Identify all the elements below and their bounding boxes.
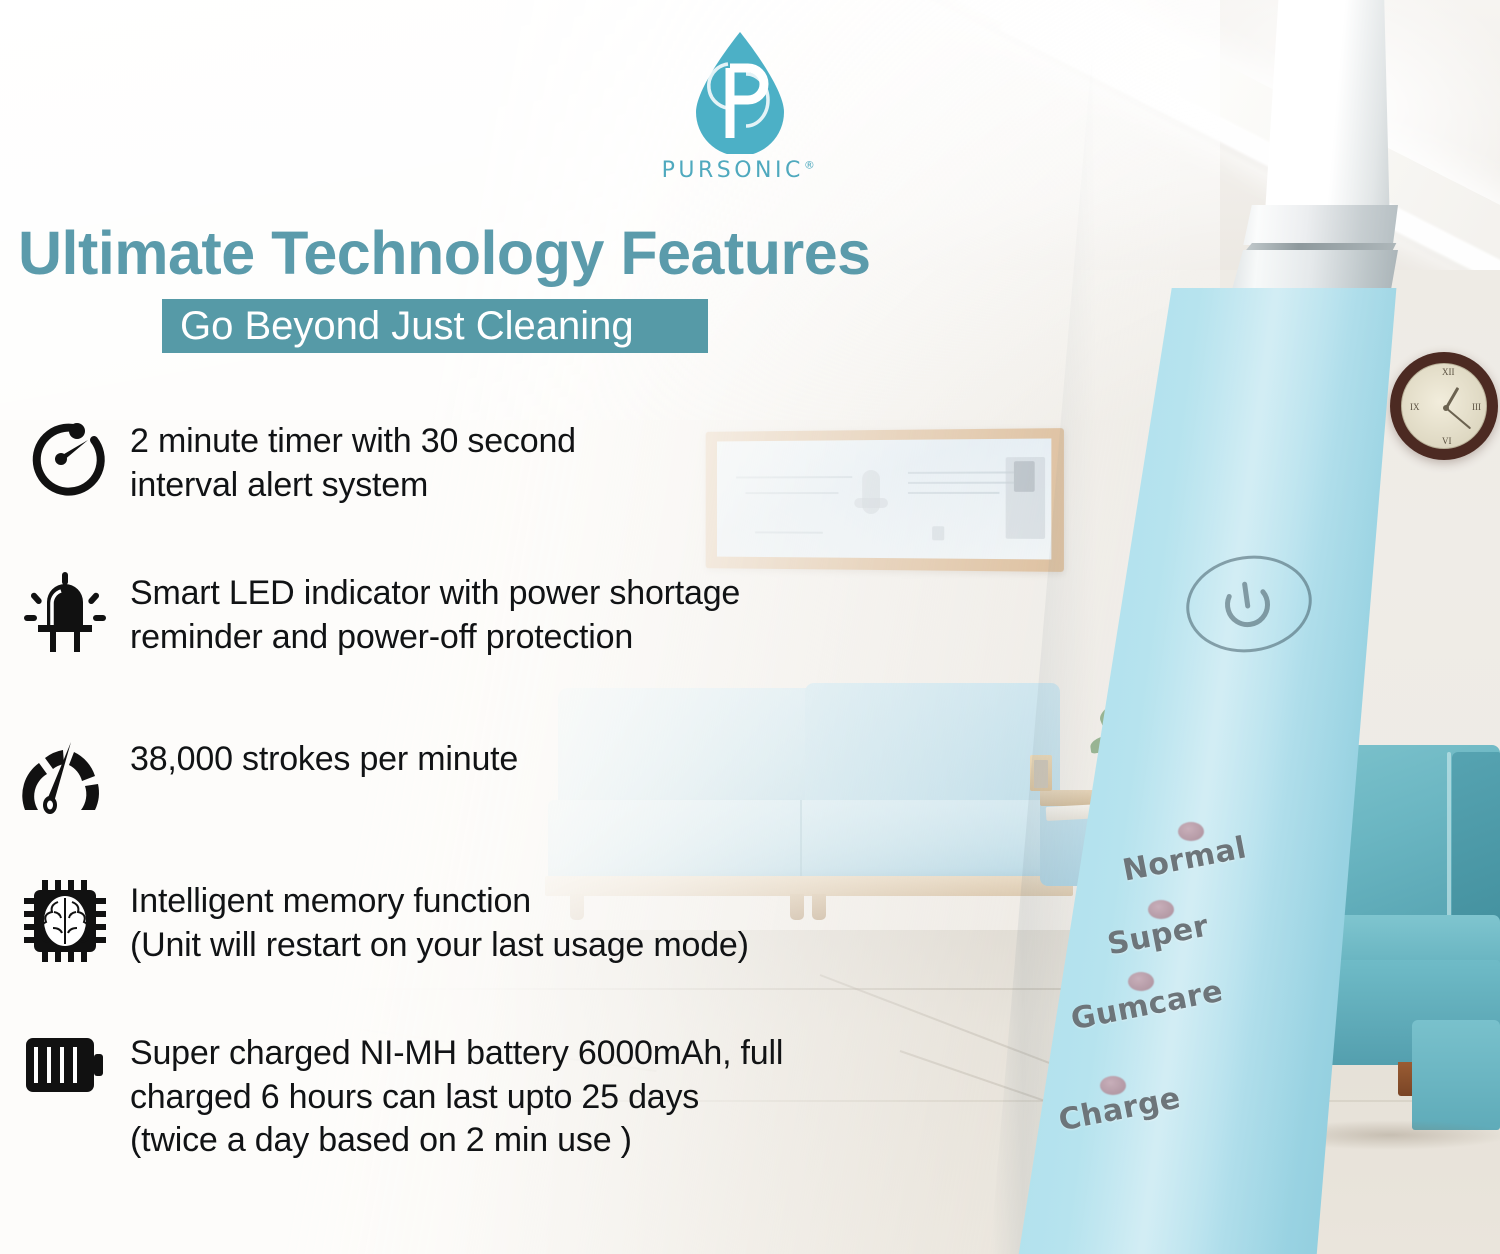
brand-name: PURSONIC®	[662, 158, 819, 183]
feature-text-speed: 38,000 strokes per minute	[130, 736, 518, 782]
feature-text-memory: Intelligent memory function (Unit will r…	[130, 878, 749, 967]
feature-text-battery: Super charged NI-MH battery 6000mAh, ful…	[130, 1030, 783, 1163]
led-bulb-icon-wrap	[0, 570, 130, 656]
armchair-side-panel	[1452, 752, 1500, 932]
feature-text-led: Smart LED indicator with power shortage …	[130, 570, 740, 659]
marketing-banner: XII III VI IX	[0, 0, 1500, 1254]
timer-icon-wrap	[0, 418, 130, 504]
led-bulb-icon	[22, 570, 108, 656]
brain-chip-icon	[22, 878, 108, 964]
ottoman	[1412, 1020, 1500, 1130]
feature-item-memory: Intelligent memory function (Unit will r…	[0, 878, 749, 967]
feature-line: (twice a day based on 2 min use )	[130, 1119, 783, 1163]
feature-line: 38,000 strokes per minute	[130, 738, 518, 782]
brand-text: PURSONIC	[662, 158, 804, 183]
feature-text-timer: 2 minute timer with 30 second interval a…	[130, 418, 576, 507]
timer-icon	[22, 418, 108, 504]
feature-item-led: Smart LED indicator with power shortage …	[0, 570, 740, 659]
feature-item-timer: 2 minute timer with 30 second interval a…	[0, 418, 576, 507]
clock-face: XII III VI IX	[1401, 363, 1487, 449]
feature-line: Super charged NI-MH battery 6000mAh, ful…	[130, 1032, 783, 1076]
battery-icon-wrap	[0, 1030, 130, 1100]
feature-line: interval alert system	[130, 464, 576, 508]
armchair-leg	[1300, 1062, 1322, 1096]
subtitle-text: Go Beyond Just Cleaning	[162, 299, 708, 353]
brain-chip-icon-wrap	[0, 878, 130, 964]
registered-mark: ®	[804, 159, 819, 172]
feature-line: Smart LED indicator with power shortage	[130, 572, 740, 616]
armchair-shadow	[1270, 1120, 1500, 1150]
brand-logo: PURSONIC®	[660, 28, 820, 183]
wall-clock: XII III VI IX	[1390, 352, 1498, 460]
armchair-piping	[1447, 752, 1451, 927]
speedometer-icon	[19, 736, 111, 822]
feature-line: Intelligent memory function	[130, 880, 749, 924]
water-drop-logo-icon	[684, 28, 796, 154]
feature-line: (Unit will restart on your last usage mo…	[130, 924, 749, 968]
feature-line: 2 minute timer with 30 second	[130, 420, 576, 464]
white-overlay-top	[0, 0, 1220, 420]
feature-line: reminder and power-off protection	[130, 616, 740, 660]
battery-icon	[22, 1030, 108, 1100]
speedometer-icon-wrap	[0, 736, 130, 822]
subtitle-banner: Go Beyond Just Cleaning	[162, 299, 708, 353]
feature-item-battery: Super charged NI-MH battery 6000mAh, ful…	[0, 1030, 783, 1163]
page-title: Ultimate Technology Features	[18, 218, 871, 288]
feature-line: charged 6 hours can last upto 25 days	[130, 1076, 783, 1120]
feature-item-speed: 38,000 strokes per minute	[0, 736, 518, 822]
